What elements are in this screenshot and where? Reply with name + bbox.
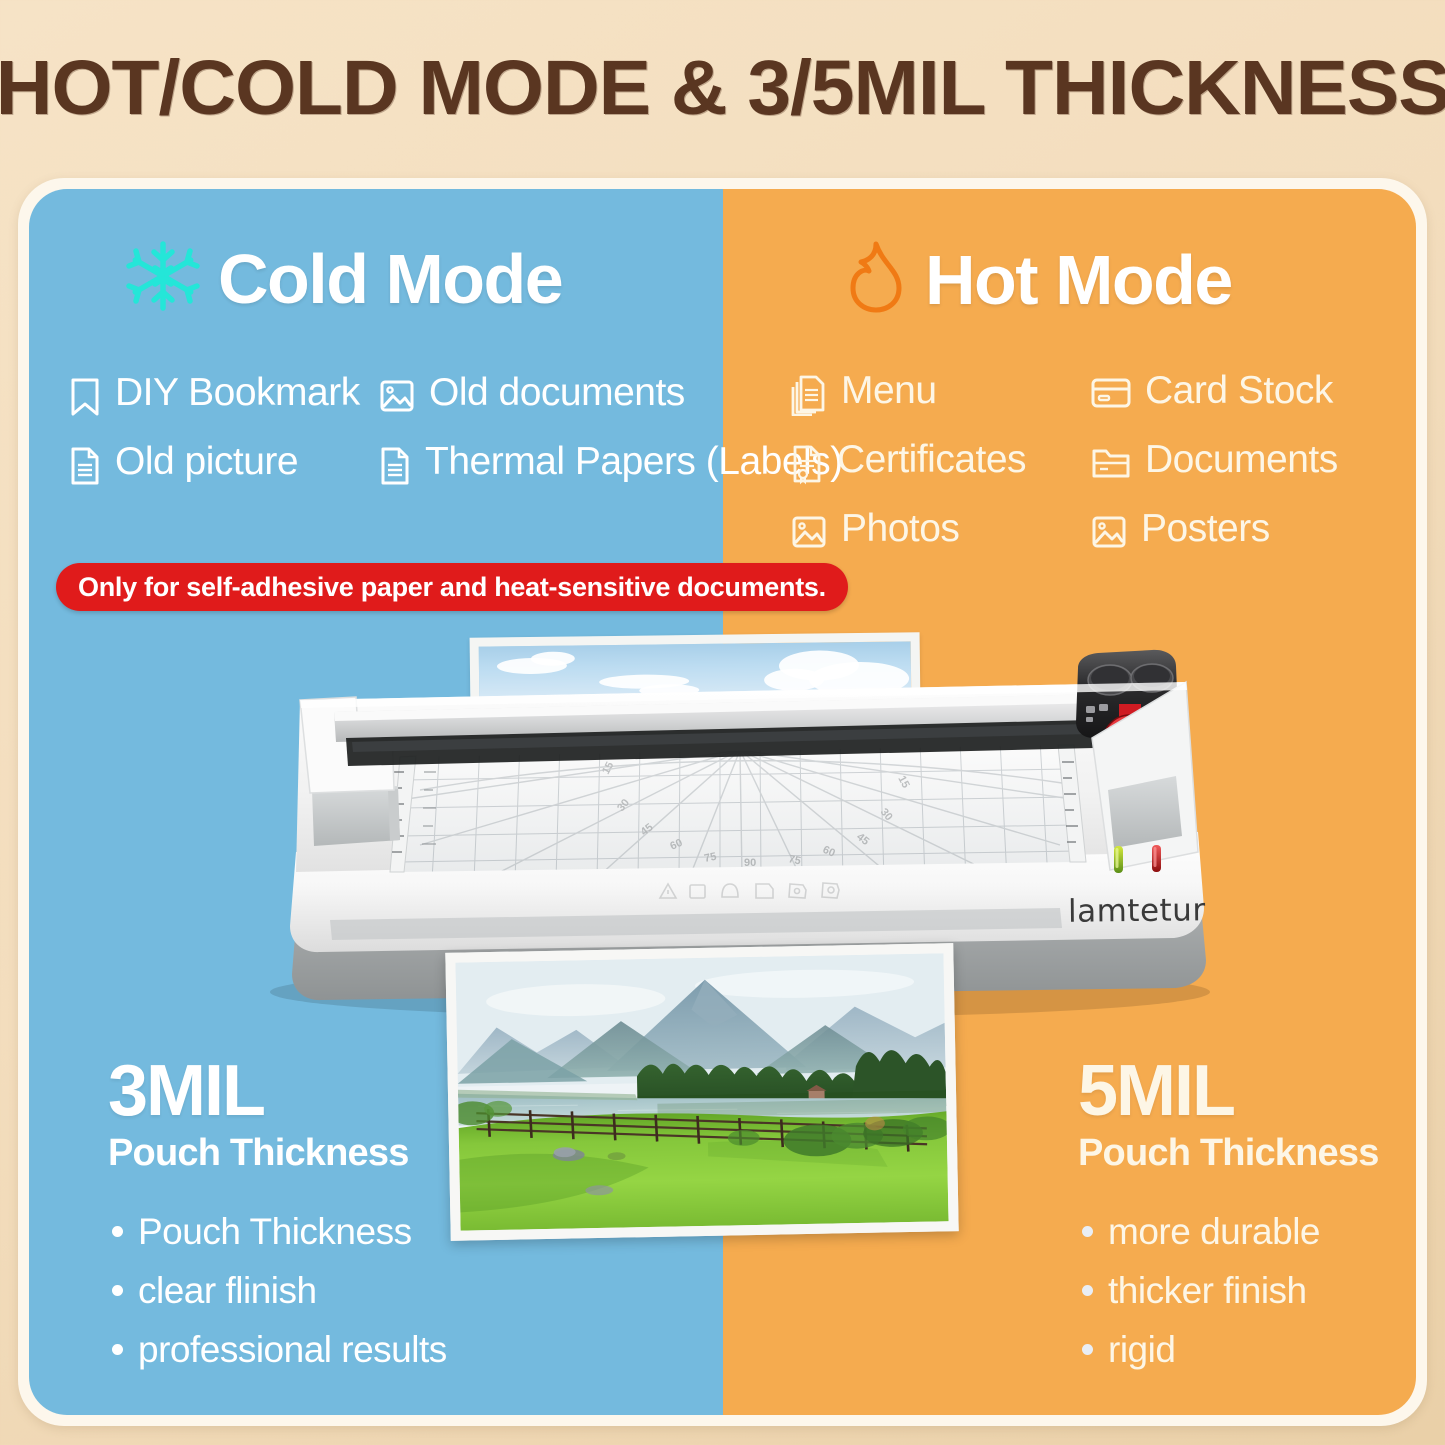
- hot-mode-title: Hot Mode: [925, 245, 1232, 315]
- card-stock-icon: [1090, 374, 1132, 417]
- cold-mode-header: Cold Mode: [126, 238, 562, 319]
- warning-text: Only for self-adhesive paper and heat-se…: [78, 572, 826, 603]
- list-item: rigid: [1078, 1331, 1379, 1368]
- feature-item: DIY Bookmark: [68, 372, 368, 423]
- cold-mode-title: Cold Mode: [218, 244, 562, 314]
- list-item: Pouch Thickness: [108, 1213, 447, 1250]
- poster-icon: [1090, 512, 1128, 557]
- feature-item: Old picture: [68, 441, 368, 492]
- landscape-photo: [445, 943, 958, 1241]
- feature-label: Posters: [1141, 508, 1270, 549]
- thickness-value: 3MIL: [108, 1055, 447, 1127]
- list-item: thicker finish: [1078, 1272, 1379, 1309]
- feature-label: DIY Bookmark: [115, 372, 360, 413]
- feature-item: Thermal Papers (Labels): [378, 441, 843, 492]
- image-icon: [790, 512, 828, 557]
- list-item: clear flinish: [108, 1272, 447, 1309]
- hot-mode-header: Hot Mode: [845, 238, 1232, 321]
- cold-feature-list: DIY Bookmark Old documents Old picture: [68, 372, 843, 492]
- thickness-subtitle: Pouch Thickness: [1078, 1133, 1379, 1175]
- document-icon: [378, 445, 412, 492]
- document-icon: [68, 445, 102, 492]
- menu-pages-icon: [790, 374, 828, 421]
- feature-label: Photos: [841, 508, 959, 549]
- hot-feature-list: Menu Card Stock Certificates: [790, 370, 1338, 557]
- folder-icon: [1090, 443, 1132, 486]
- feature-label: Documents: [1145, 439, 1338, 480]
- certificate-icon: [790, 443, 824, 490]
- snowflake-icon: [126, 238, 200, 319]
- thickness-value: 5MIL: [1078, 1055, 1379, 1127]
- feature-item: Menu: [790, 370, 1080, 421]
- thickness-bullet-list: more durable thicker finish rigid: [1078, 1213, 1379, 1368]
- thickness-5mil-block: 5MIL Pouch Thickness more durable thicke…: [1078, 1055, 1379, 1390]
- page-title: HOT/COLD MODE & 3/5MIL THICKNESS: [0, 44, 1445, 133]
- bookmark-icon: [68, 376, 102, 423]
- feature-item: Certificates: [790, 439, 1080, 490]
- feature-item: Posters: [1090, 508, 1338, 557]
- image-icon: [378, 376, 416, 421]
- sky-photo: [470, 632, 921, 709]
- feature-item: Card Stock: [1090, 370, 1338, 421]
- feature-item: Old documents: [378, 372, 843, 423]
- list-item: more durable: [1078, 1213, 1379, 1250]
- flame-icon: [845, 238, 907, 321]
- feature-label: Certificates: [837, 439, 1026, 480]
- cold-mode-warning-banner: Only for self-adhesive paper and heat-se…: [56, 563, 848, 611]
- feature-label: Card Stock: [1145, 370, 1333, 411]
- feature-label: Menu: [841, 370, 937, 411]
- list-item: professional results: [108, 1331, 447, 1368]
- feature-label: Old documents: [429, 372, 685, 413]
- thickness-bullet-list: Pouch Thickness clear flinish profession…: [108, 1213, 447, 1368]
- feature-label: Thermal Papers (Labels): [425, 441, 843, 482]
- thickness-subtitle: Pouch Thickness: [108, 1133, 447, 1175]
- feature-item: Documents: [1090, 439, 1338, 490]
- brand-logo: lamtetur: [1068, 892, 1206, 929]
- thickness-3mil-block: 3MIL Pouch Thickness Pouch Thickness cle…: [108, 1055, 447, 1390]
- page-header: HOT/COLD MODE & 3/5MIL THICKNESS: [0, 0, 1445, 176]
- feature-label: Old picture: [115, 441, 298, 482]
- feature-item: Photos: [790, 508, 1080, 557]
